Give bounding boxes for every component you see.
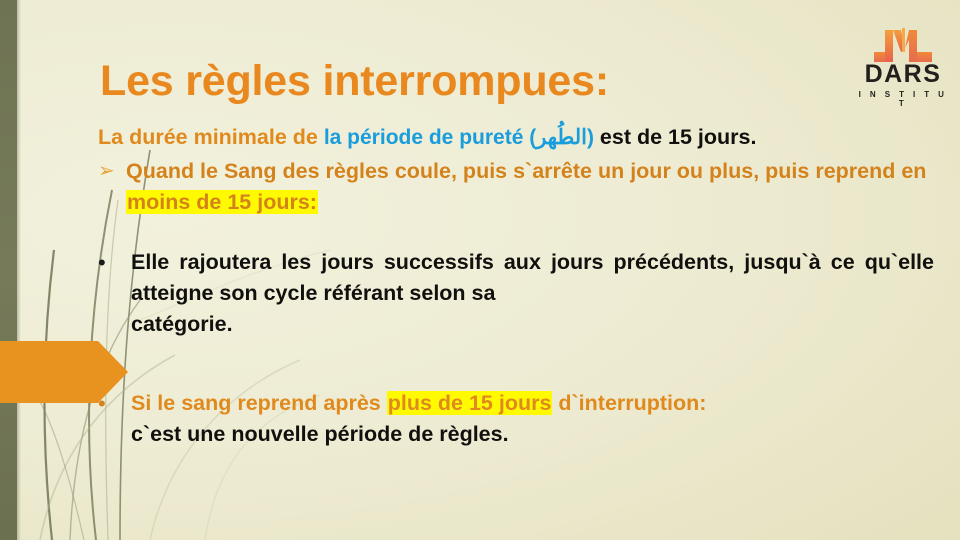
list-item: • Elle rajoutera les jours successifs au… <box>98 247 934 340</box>
arrow-item-highlight: moins de 15 jours: <box>126 190 318 214</box>
slide-body: La durée minimale de la période de puret… <box>98 122 934 450</box>
lead-part3: est de 15 jours. <box>594 125 757 149</box>
list-item-tail: catégorie. <box>131 309 934 340</box>
left-band-shadow <box>17 0 21 540</box>
arrow-item-text: Quand le Sang des règles coule, puis s`a… <box>126 156 934 218</box>
list-item-part1: Si le sang reprend après <box>131 391 387 415</box>
page-title: Les règles interrompues: <box>100 57 609 106</box>
logo-name: DARS <box>855 62 951 87</box>
slide: Les règles interrompues: DARS I N S T I … <box>0 0 960 540</box>
list-item-text: Si le sang reprend après plus de 15 jour… <box>131 388 934 450</box>
list-item-part2: d`interruption: <box>552 391 706 415</box>
list-item-body: Elle rajoutera les jours successifs aux … <box>131 250 934 305</box>
dars-m-mark-icon <box>872 26 934 64</box>
left-decorative-band <box>0 0 17 540</box>
lead-part2-arabic: la période de pureté (الطُهر) <box>324 126 594 149</box>
lead-paragraph: La durée minimale de la période de puret… <box>98 122 934 153</box>
list-item-highlight: plus de 15 jours <box>387 391 553 415</box>
list-item-tail: c`est une nouvelle période de règles. <box>131 419 934 450</box>
bullet-icon: • <box>98 247 131 340</box>
lead-part1: La durée minimale de <box>98 125 324 149</box>
logo-subtitle: I N S T I T U T <box>855 90 951 108</box>
bullet-icon: • <box>98 388 131 450</box>
arrow-list-item: ➢ Quand le Sang des règles coule, puis s… <box>98 156 934 218</box>
list-item: • Si le sang reprend après plus de 15 jo… <box>98 388 934 450</box>
dars-logo: DARS I N S T I T U T <box>855 26 951 104</box>
arrow-item-part1: Quand le Sang des règles coule, puis s`a… <box>126 159 926 183</box>
list-item-text: Elle rajoutera les jours successifs aux … <box>131 247 934 340</box>
arrow-bullet-icon: ➢ <box>98 156 126 218</box>
